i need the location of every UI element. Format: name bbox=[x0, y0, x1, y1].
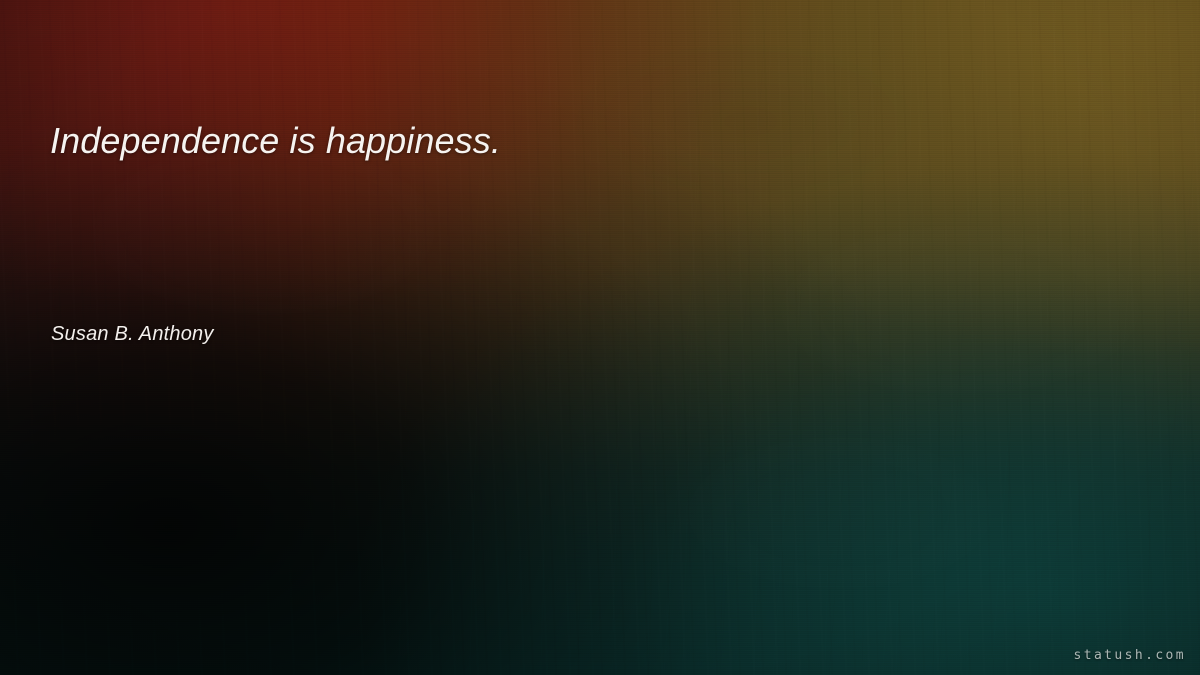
quote-author: Susan B. Anthony bbox=[51, 321, 214, 347]
quote-text: Independence is happiness. bbox=[50, 119, 1050, 163]
quote-image-canvas: Independence is happiness. Susan B. Anth… bbox=[0, 0, 1200, 675]
watermark-label: statush.com bbox=[1074, 648, 1187, 664]
